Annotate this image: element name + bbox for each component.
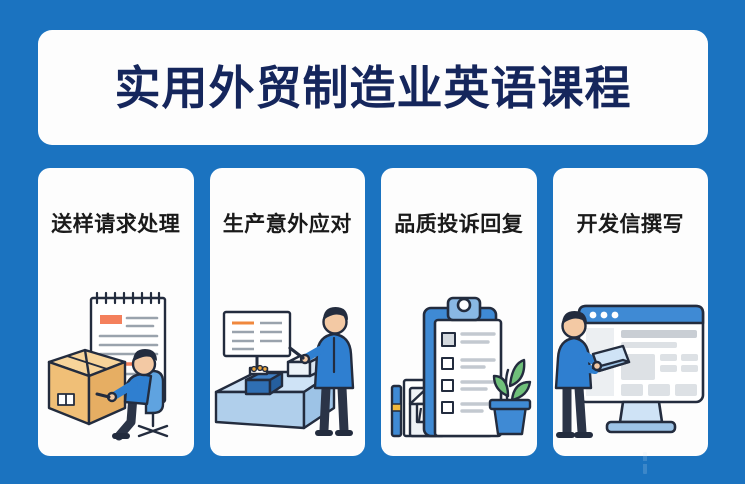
feature-card-title: 品质投诉回复 xyxy=(394,208,523,238)
outreach-email-illustration xyxy=(553,270,709,446)
feature-cards-row: 送样请求处理 xyxy=(38,168,708,456)
production-incident-illustration xyxy=(210,270,366,446)
page-title: 实用外贸制造业英语课程 xyxy=(115,65,632,111)
feature-card-title: 送样请求处理 xyxy=(51,208,180,238)
header-banner-card: 实用外贸制造业英语课程 xyxy=(38,30,708,145)
sample-request-illustration xyxy=(38,270,194,446)
feature-card-outreach-email[interactable]: 开发信撰写 xyxy=(553,168,709,456)
feature-card-sample-request[interactable]: 送样请求处理 xyxy=(38,168,194,456)
feature-card-production-incident[interactable]: 生产意外应对 xyxy=(210,168,366,456)
quality-complaint-illustration xyxy=(381,270,537,446)
feature-card-title: 开发信撰写 xyxy=(577,208,685,238)
watermark-mark xyxy=(643,452,647,474)
feature-card-quality-complaint[interactable]: 品质投诉回复 xyxy=(381,168,537,456)
poster-root: 实用外贸制造业英语课程 送样请求处理 xyxy=(0,0,745,484)
feature-card-title: 生产意外应对 xyxy=(223,208,352,238)
